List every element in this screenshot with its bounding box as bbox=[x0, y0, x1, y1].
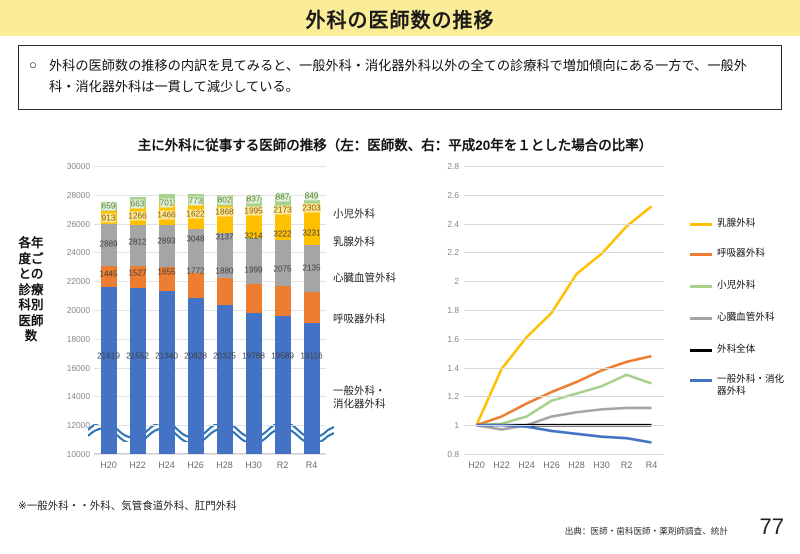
bar-column[interactable]: 2161914452889913659 bbox=[101, 166, 117, 454]
bar-segment[interactable] bbox=[130, 288, 146, 454]
y-axis-tick: 1.8 bbox=[447, 305, 459, 315]
legend-swatch bbox=[690, 223, 712, 226]
slide-root: 外科の医師数の推移 ○ 外科の医師数の推移の内訳を見てみると、一般外科・消化器外… bbox=[0, 0, 800, 554]
y-axis-tick: 14000 bbox=[67, 391, 90, 401]
gridline bbox=[464, 166, 664, 167]
bar-segment[interactable] bbox=[275, 240, 291, 286]
bar-segment[interactable] bbox=[159, 291, 175, 454]
bar-segment[interactable] bbox=[188, 298, 204, 454]
legend-item[interactable]: 一般外科・消化 器外科 bbox=[690, 374, 784, 398]
y-axis-tick: 0.8 bbox=[447, 449, 459, 459]
bar-segment[interactable] bbox=[246, 313, 262, 454]
left-chart-y-axis-title: 各年度ごとの診療科別医師数 bbox=[14, 236, 48, 345]
gridline bbox=[464, 425, 664, 426]
bar-value-label: 21340 bbox=[155, 352, 178, 361]
legend-swatch bbox=[690, 349, 712, 352]
x-axis-tick: H28 bbox=[216, 460, 233, 470]
y-axis-tick: 10000 bbox=[67, 449, 90, 459]
summary-text: 外科の医師数の推移の内訳を見てみると、一般外科・消化器外科以外の全ての診療科で増… bbox=[49, 55, 773, 97]
bullet-icon: ○ bbox=[29, 55, 49, 97]
x-axis-tick: R2 bbox=[621, 460, 633, 470]
gridline bbox=[94, 454, 326, 455]
footnote: ※一般外科・・外科、気管食道外科、肛門外科 bbox=[18, 498, 237, 513]
bar-value-label: 21552 bbox=[126, 352, 149, 361]
bar-segment[interactable] bbox=[304, 323, 320, 454]
category-callout: 小児外科 bbox=[333, 208, 375, 221]
bar-value-label: 3048 bbox=[186, 235, 204, 244]
legend-item[interactable]: 乳腺外科 bbox=[690, 218, 755, 230]
page-title: 外科の医師数の推移 bbox=[0, 4, 800, 33]
x-axis-tick: H28 bbox=[568, 460, 585, 470]
bar-column[interactable]: 19788199932141995837 bbox=[246, 166, 262, 454]
legend-item[interactable]: 呼吸器外科 bbox=[690, 248, 765, 260]
legend-label: 乳腺外科 bbox=[717, 218, 755, 230]
x-axis-tick: R4 bbox=[646, 460, 658, 470]
y-axis-tick: 26000 bbox=[67, 219, 90, 229]
y-axis-tick: 16000 bbox=[67, 363, 90, 373]
bar-value-label: 1880 bbox=[215, 266, 233, 275]
bar-value-label: 20325 bbox=[213, 352, 236, 361]
bar-value-label: 2889 bbox=[99, 239, 117, 248]
bar-segment[interactable] bbox=[101, 287, 117, 454]
bar-segment[interactable] bbox=[246, 238, 262, 284]
bar-column[interactable]: 21552152728121266663 bbox=[130, 166, 146, 454]
bar-value-label: 3222 bbox=[273, 230, 291, 239]
source-note: 出典：医師・歯科医師・薬剤師調査、統計 bbox=[565, 525, 728, 537]
bar-segment[interactable] bbox=[246, 284, 262, 313]
bar-segment[interactable] bbox=[188, 273, 204, 299]
line-series bbox=[477, 425, 652, 442]
legend-item[interactable]: 心臓血管外科 bbox=[690, 312, 775, 324]
y-axis-tick: 2 bbox=[454, 276, 459, 286]
gridline bbox=[464, 281, 664, 282]
gridline bbox=[464, 368, 664, 369]
bar-value-label: 2893 bbox=[157, 236, 175, 245]
x-axis-tick: H30 bbox=[245, 460, 262, 470]
right-line-chart: 0.811.21.41.61.822.22.42.62.8H20H22H24H2… bbox=[432, 160, 792, 460]
legend-swatch bbox=[690, 253, 712, 256]
bar-value-label: 1868 bbox=[215, 208, 233, 217]
x-axis-tick: R4 bbox=[306, 460, 318, 470]
bar-value-label: 802 bbox=[218, 196, 232, 205]
bar-column[interactable]: 20828177230481622773 bbox=[188, 166, 204, 454]
bar-value-label: 3137 bbox=[215, 233, 233, 242]
bar-value-label: 19116 bbox=[300, 352, 322, 361]
bar-value-label: 2075 bbox=[273, 264, 291, 273]
category-callout: 一般外科・ 消化器外科 bbox=[333, 385, 386, 411]
axis-break-wave-icon bbox=[88, 424, 334, 442]
bar-value-label: 2135 bbox=[302, 263, 320, 272]
x-axis-tick: H26 bbox=[543, 460, 560, 470]
bar-value-label: 887 bbox=[276, 193, 290, 202]
right-chart-plot-area: 0.811.21.41.61.822.22.42.62.8H20H22H24H2… bbox=[464, 166, 664, 454]
y-axis-tick: 24000 bbox=[67, 247, 90, 257]
left-chart-plot-area: 1000012000140001600018000200002200024000… bbox=[94, 166, 326, 454]
bar-segment[interactable] bbox=[217, 278, 233, 305]
legend-swatch bbox=[690, 285, 712, 288]
bar-value-label: 2173 bbox=[273, 205, 291, 214]
legend-swatch bbox=[690, 379, 712, 382]
bar-value-label: 849 bbox=[305, 192, 319, 201]
bar-value-label: 19788 bbox=[242, 352, 265, 361]
gridline bbox=[464, 310, 664, 311]
category-callout: 乳腺外科 bbox=[333, 236, 375, 249]
legend-swatch bbox=[690, 317, 712, 320]
x-axis-tick: H20 bbox=[100, 460, 117, 470]
legend-item[interactable]: 小児外科 bbox=[690, 280, 755, 292]
bar-column[interactable]: 21340165528931466701 bbox=[159, 166, 175, 454]
bar-segment[interactable] bbox=[217, 305, 233, 454]
bar-value-label: 837 bbox=[247, 194, 261, 203]
bar-segment[interactable] bbox=[304, 292, 320, 323]
bar-value-label: 1995 bbox=[244, 207, 262, 216]
bar-value-label: 1622 bbox=[186, 209, 204, 218]
y-axis-tick: 2.4 bbox=[447, 219, 459, 229]
y-axis-tick: 2.8 bbox=[447, 161, 459, 171]
gridline bbox=[464, 396, 664, 397]
bar-value-label: 1445 bbox=[99, 270, 117, 279]
bar-value-label: 1655 bbox=[157, 268, 175, 277]
bar-value-label: 3214 bbox=[244, 231, 262, 240]
bar-segment[interactable] bbox=[275, 316, 291, 454]
bar-value-label: 773 bbox=[189, 197, 203, 206]
y-axis-tick: 1.4 bbox=[447, 363, 459, 373]
legend-label: 一般外科・消化 器外科 bbox=[717, 374, 784, 398]
x-axis-tick: H22 bbox=[129, 460, 146, 470]
y-axis-tick: 2.2 bbox=[447, 247, 459, 257]
bar-column[interactable]: 19589207532222173887 bbox=[275, 166, 291, 454]
y-axis-tick: 22000 bbox=[67, 276, 90, 286]
gridline bbox=[464, 224, 664, 225]
y-axis-tick: 30000 bbox=[67, 161, 90, 171]
left-bar-chart: 1000012000140001600018000200002200024000… bbox=[52, 160, 352, 460]
y-axis-tick: 1.2 bbox=[447, 391, 459, 401]
bar-value-label: 659 bbox=[102, 201, 116, 210]
bar-value-label: 2303 bbox=[302, 204, 320, 213]
category-callout: 心臓血管外科 bbox=[333, 272, 396, 285]
bar-value-label: 1266 bbox=[128, 212, 146, 221]
gridline bbox=[464, 195, 664, 196]
bar-value-label: 701 bbox=[160, 198, 174, 207]
gridline bbox=[464, 252, 664, 253]
y-axis-tick: 18000 bbox=[67, 334, 90, 344]
category-callout: 呼吸器外科 bbox=[333, 313, 386, 326]
y-axis-tick: 1.6 bbox=[447, 334, 459, 344]
bar-value-label: 2812 bbox=[128, 238, 146, 247]
bar-value-label: 1527 bbox=[128, 269, 146, 278]
bar-value-label: 1772 bbox=[186, 267, 204, 276]
bar-segment[interactable] bbox=[159, 225, 175, 267]
summary-box: ○ 外科の医師数の推移の内訳を見てみると、一般外科・消化器外科以外の全ての診療科… bbox=[18, 45, 782, 110]
line-series bbox=[477, 375, 652, 425]
bar-value-label: 663 bbox=[131, 200, 145, 209]
legend-label: 小児外科 bbox=[717, 280, 755, 292]
gridline bbox=[464, 339, 664, 340]
bar-value-label: 20828 bbox=[184, 352, 207, 361]
legend-label: 呼吸器外科 bbox=[717, 248, 765, 260]
y-axis-tick: 20000 bbox=[67, 305, 90, 315]
x-axis-tick: H20 bbox=[468, 460, 485, 470]
bar-segment[interactable] bbox=[275, 286, 291, 316]
legend-label: 外科全体 bbox=[717, 344, 755, 356]
chart-title: 主に外科に従事する医師の推移（左：医師数、右：平成20年を１とした場合の比率） bbox=[0, 134, 790, 154]
x-axis-tick: H22 bbox=[493, 460, 510, 470]
x-axis-tick: H24 bbox=[158, 460, 175, 470]
gridline bbox=[464, 454, 664, 455]
y-axis-tick: 12000 bbox=[67, 420, 90, 430]
y-axis-tick: 1 bbox=[454, 420, 459, 430]
legend-label: 心臓血管外科 bbox=[717, 312, 775, 324]
bar-value-label: 1466 bbox=[157, 211, 175, 220]
x-axis-tick: R2 bbox=[277, 460, 289, 470]
bar-value-label: 21619 bbox=[97, 352, 120, 361]
bar-value-label: 1999 bbox=[244, 265, 262, 274]
y-axis-tick: 2.6 bbox=[447, 190, 459, 200]
bar-value-label: 3231 bbox=[302, 228, 320, 237]
x-axis-tick: H30 bbox=[593, 460, 610, 470]
x-axis-tick: H24 bbox=[518, 460, 535, 470]
bar-column[interactable]: 20325188031371868802 bbox=[217, 166, 233, 454]
x-axis-tick: H26 bbox=[187, 460, 204, 470]
y-axis-tick: 28000 bbox=[67, 190, 90, 200]
page-number: 77 bbox=[760, 514, 784, 540]
legend-item[interactable]: 外科全体 bbox=[690, 344, 755, 356]
line-series bbox=[477, 206, 652, 425]
bar-value-label: 19589 bbox=[271, 352, 294, 361]
bar-column[interactable]: 19116213532312303849 bbox=[304, 166, 320, 454]
bar-value-label: 913 bbox=[102, 213, 116, 222]
